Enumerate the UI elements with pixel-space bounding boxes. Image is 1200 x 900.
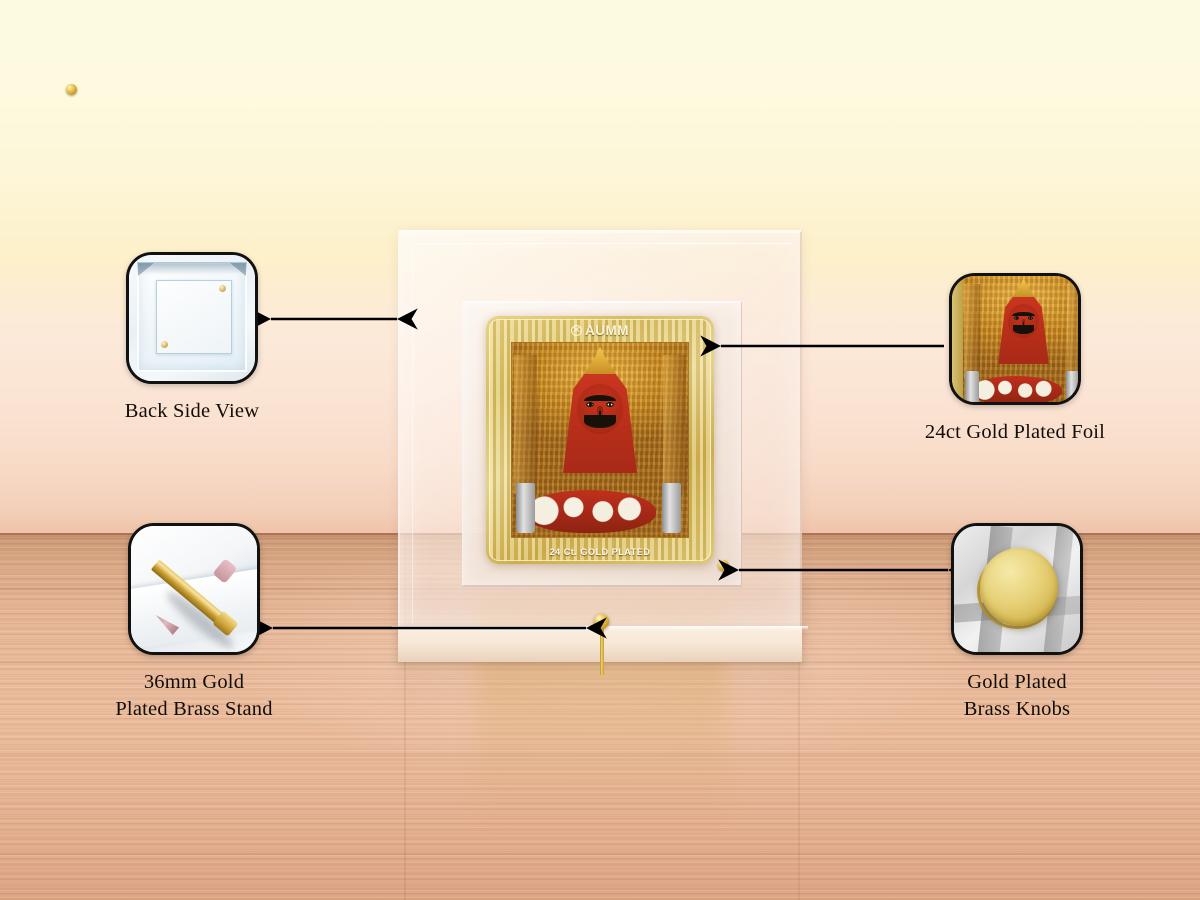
temple-pillar-right bbox=[663, 355, 686, 495]
thumbnail-gold-plated-foil[interactable] bbox=[949, 273, 1081, 405]
back-plate bbox=[156, 280, 232, 354]
gold-knob-macro-photo bbox=[954, 526, 1080, 652]
callout-label-brass-stand: 36mm Gold Plated Brass Stand bbox=[94, 669, 294, 722]
deity-eye-right-closeup bbox=[1028, 316, 1033, 320]
aumm-logo-icon bbox=[571, 325, 582, 336]
deity-eye-left-closeup bbox=[1014, 316, 1019, 320]
deity-eye-left bbox=[586, 402, 594, 408]
deity-brow bbox=[584, 395, 617, 401]
gold-plated-foil-card: AUMM 24 Ct. GOLD PLATED bbox=[486, 316, 714, 564]
silver-lamp-right bbox=[662, 483, 681, 533]
arrow-brass-knobs bbox=[730, 557, 956, 583]
brass-knob-bottom-right bbox=[718, 560, 729, 571]
flower-offering-tray-closeup bbox=[970, 376, 1062, 402]
arrow-gold-foil bbox=[712, 333, 948, 359]
temple-pillar-left bbox=[514, 355, 537, 495]
callout-label-brass-stand-line2: Plated Brass Stand bbox=[94, 696, 294, 723]
back-screw-bottom-left bbox=[161, 341, 168, 348]
temple-pillar-left-closeup bbox=[964, 284, 980, 379]
deity-mouth-closeup bbox=[1013, 325, 1034, 334]
callout-brass-knobs[interactable]: Gold Plated Brass Knobs bbox=[951, 523, 1117, 722]
temple-pillar-right-closeup bbox=[1067, 284, 1078, 379]
callout-label-gold-plated-foil: 24ct Gold Plated Foil bbox=[915, 419, 1115, 446]
callout-gold-plated-foil[interactable]: 24ct Gold Plated Foil bbox=[949, 273, 1115, 446]
foil-border-strip bbox=[952, 276, 963, 402]
foil-brand-text: AUMM bbox=[585, 323, 629, 338]
callout-label-back-side-view: Back Side View bbox=[92, 398, 292, 425]
brass-knob-top-left bbox=[66, 84, 77, 95]
brass-stand-ball bbox=[594, 614, 609, 629]
product-infographic-scene: AUMM 24 Ct. GOLD PLATED bbox=[0, 0, 1200, 900]
thumbnail-back-side-view[interactable] bbox=[126, 252, 258, 384]
silver-lamp-left-closeup bbox=[965, 371, 978, 402]
callout-label-brass-knobs-line2: Brass Knobs bbox=[917, 696, 1117, 723]
deity-face-closeup bbox=[1008, 304, 1039, 338]
deity-mouth bbox=[584, 415, 615, 428]
silver-lamp-right-closeup bbox=[1066, 371, 1078, 402]
flower-offering-tray bbox=[523, 490, 657, 533]
callout-label-brass-knobs-line1: Gold Plated bbox=[917, 669, 1117, 696]
silver-lamp-left bbox=[516, 483, 535, 533]
back-screw-top-right bbox=[219, 285, 226, 292]
acrylic-top-edge bbox=[137, 262, 247, 275]
gold-foil-closeup-photo bbox=[952, 276, 1078, 402]
thumbnail-brass-knobs[interactable] bbox=[951, 523, 1083, 655]
arrow-brass-stand bbox=[264, 615, 594, 641]
brass-stand-pin-photo bbox=[131, 526, 257, 652]
shrine-deity-image bbox=[511, 342, 689, 538]
callout-label-brass-knobs: Gold Plated Brass Knobs bbox=[917, 669, 1117, 722]
foil-caption-text: 24 Ct. GOLD PLATED bbox=[486, 544, 714, 560]
deity-face bbox=[577, 384, 623, 434]
acrylic-back-panel-photo bbox=[129, 255, 255, 381]
callout-label-brass-stand-line1: 36mm Gold bbox=[94, 669, 294, 696]
deity-eye-right bbox=[606, 402, 614, 408]
callout-back-side-view[interactable]: Back Side View bbox=[126, 252, 292, 425]
knob-disc bbox=[980, 548, 1058, 626]
shrine-deity-image-closeup bbox=[963, 276, 1078, 402]
callout-brass-stand[interactable]: 36mm Gold Plated Brass Stand bbox=[128, 523, 294, 722]
thumbnail-brass-stand[interactable] bbox=[128, 523, 260, 655]
foil-brand-row: AUMM bbox=[486, 321, 714, 340]
